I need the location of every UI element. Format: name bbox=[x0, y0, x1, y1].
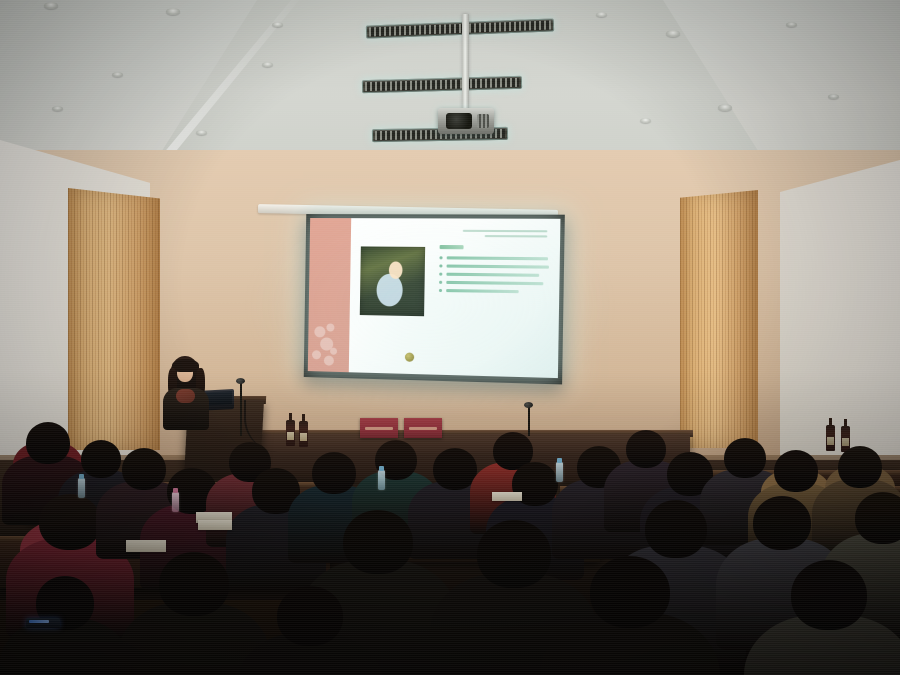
wood-slat-wall-panel-right bbox=[680, 190, 758, 448]
water-bottle-desk-1 bbox=[78, 478, 85, 498]
attendee-27 bbox=[0, 576, 130, 675]
person-head bbox=[855, 492, 900, 544]
slide-bullet-item bbox=[439, 281, 549, 286]
bottle-label bbox=[842, 438, 849, 446]
recessed-downlight bbox=[112, 72, 123, 77]
name-placard-2 bbox=[404, 418, 442, 438]
award-seal bbox=[405, 352, 414, 361]
bullet-text-line bbox=[446, 289, 518, 293]
bottle-cap bbox=[379, 466, 384, 471]
smartphone-screen-glow bbox=[29, 620, 49, 623]
person-head bbox=[159, 552, 229, 616]
slide-header-text bbox=[463, 229, 548, 237]
gooseneck-microphone-stand bbox=[240, 382, 242, 436]
person-head bbox=[753, 496, 811, 550]
slide-sidebar bbox=[308, 218, 352, 372]
smartphone-on-desk bbox=[26, 618, 60, 628]
bottle-label bbox=[287, 432, 294, 440]
presenter-hair-fringe bbox=[172, 359, 199, 372]
bullet-marker-icon bbox=[440, 256, 443, 259]
bullet-text-line bbox=[447, 264, 549, 268]
slide-photo-speaker bbox=[360, 246, 425, 317]
water-bottle-desk-3 bbox=[378, 470, 385, 490]
water-bottle-desk-4 bbox=[556, 462, 563, 482]
presenter-speaker bbox=[160, 356, 216, 426]
person-head bbox=[312, 452, 356, 494]
person-head bbox=[791, 560, 867, 630]
water-bottle-desk-2 bbox=[172, 492, 179, 512]
recessed-downlight bbox=[718, 104, 732, 111]
slide-bullet-list bbox=[439, 245, 550, 299]
bullet-text-line bbox=[447, 273, 539, 277]
bullet-text-line bbox=[447, 256, 548, 260]
lecture-hall-photo bbox=[0, 0, 900, 675]
name-placard-1 bbox=[360, 418, 398, 438]
person-head bbox=[838, 446, 882, 488]
slide-title-underline bbox=[440, 245, 464, 249]
presentation-slide bbox=[308, 218, 561, 378]
recessed-downlight bbox=[596, 12, 607, 17]
bottle-label bbox=[827, 437, 834, 445]
handout-2 bbox=[492, 492, 522, 501]
recessed-downlight bbox=[166, 8, 180, 15]
attendee-24 bbox=[540, 556, 720, 675]
recessed-downlight bbox=[272, 22, 283, 27]
bullet-marker-icon bbox=[439, 281, 442, 284]
recessed-downlight bbox=[666, 30, 680, 37]
bottle-label bbox=[300, 433, 307, 441]
recessed-downlight bbox=[44, 2, 58, 9]
bullet-marker-icon bbox=[439, 273, 442, 276]
slide-bullet-item bbox=[439, 273, 549, 277]
person-head bbox=[39, 494, 101, 550]
recessed-downlight bbox=[640, 118, 651, 123]
wine-bottle-2 bbox=[299, 421, 308, 447]
right-wall bbox=[780, 160, 900, 480]
person-head bbox=[277, 586, 343, 646]
bottle-cap bbox=[79, 474, 84, 479]
attendee-26 bbox=[744, 560, 900, 675]
slide-bullet-item bbox=[440, 256, 550, 260]
recessed-downlight bbox=[262, 62, 273, 67]
bullet-marker-icon bbox=[439, 289, 442, 292]
slide-bullet-item bbox=[439, 289, 549, 294]
person-head bbox=[590, 556, 670, 628]
recessed-downlight bbox=[196, 130, 207, 135]
bottle-cap bbox=[557, 458, 562, 463]
recessed-downlight bbox=[52, 106, 63, 111]
projection-screen bbox=[304, 214, 565, 384]
attendee-28 bbox=[236, 586, 384, 675]
person-head bbox=[343, 510, 413, 574]
person-head bbox=[645, 500, 707, 558]
recessed-downlight bbox=[786, 22, 797, 27]
presenter-scarf bbox=[176, 389, 195, 403]
recessed-downlight bbox=[828, 94, 839, 99]
bullet-marker-icon bbox=[440, 264, 443, 267]
bottle-cap bbox=[173, 488, 178, 493]
projector-lens bbox=[446, 113, 472, 129]
wood-slat-wall-panel-left bbox=[68, 188, 160, 450]
projector-vent bbox=[477, 114, 489, 128]
gooseneck-microphone bbox=[236, 378, 245, 384]
bullet-text-line bbox=[447, 281, 544, 285]
slide-bullet-item bbox=[440, 264, 550, 268]
handout-1 bbox=[198, 520, 232, 530]
notebook-1 bbox=[126, 540, 166, 552]
projector-mount-pole bbox=[462, 14, 469, 110]
head-table-microphone bbox=[524, 402, 533, 408]
ceiling-projector bbox=[438, 108, 494, 134]
